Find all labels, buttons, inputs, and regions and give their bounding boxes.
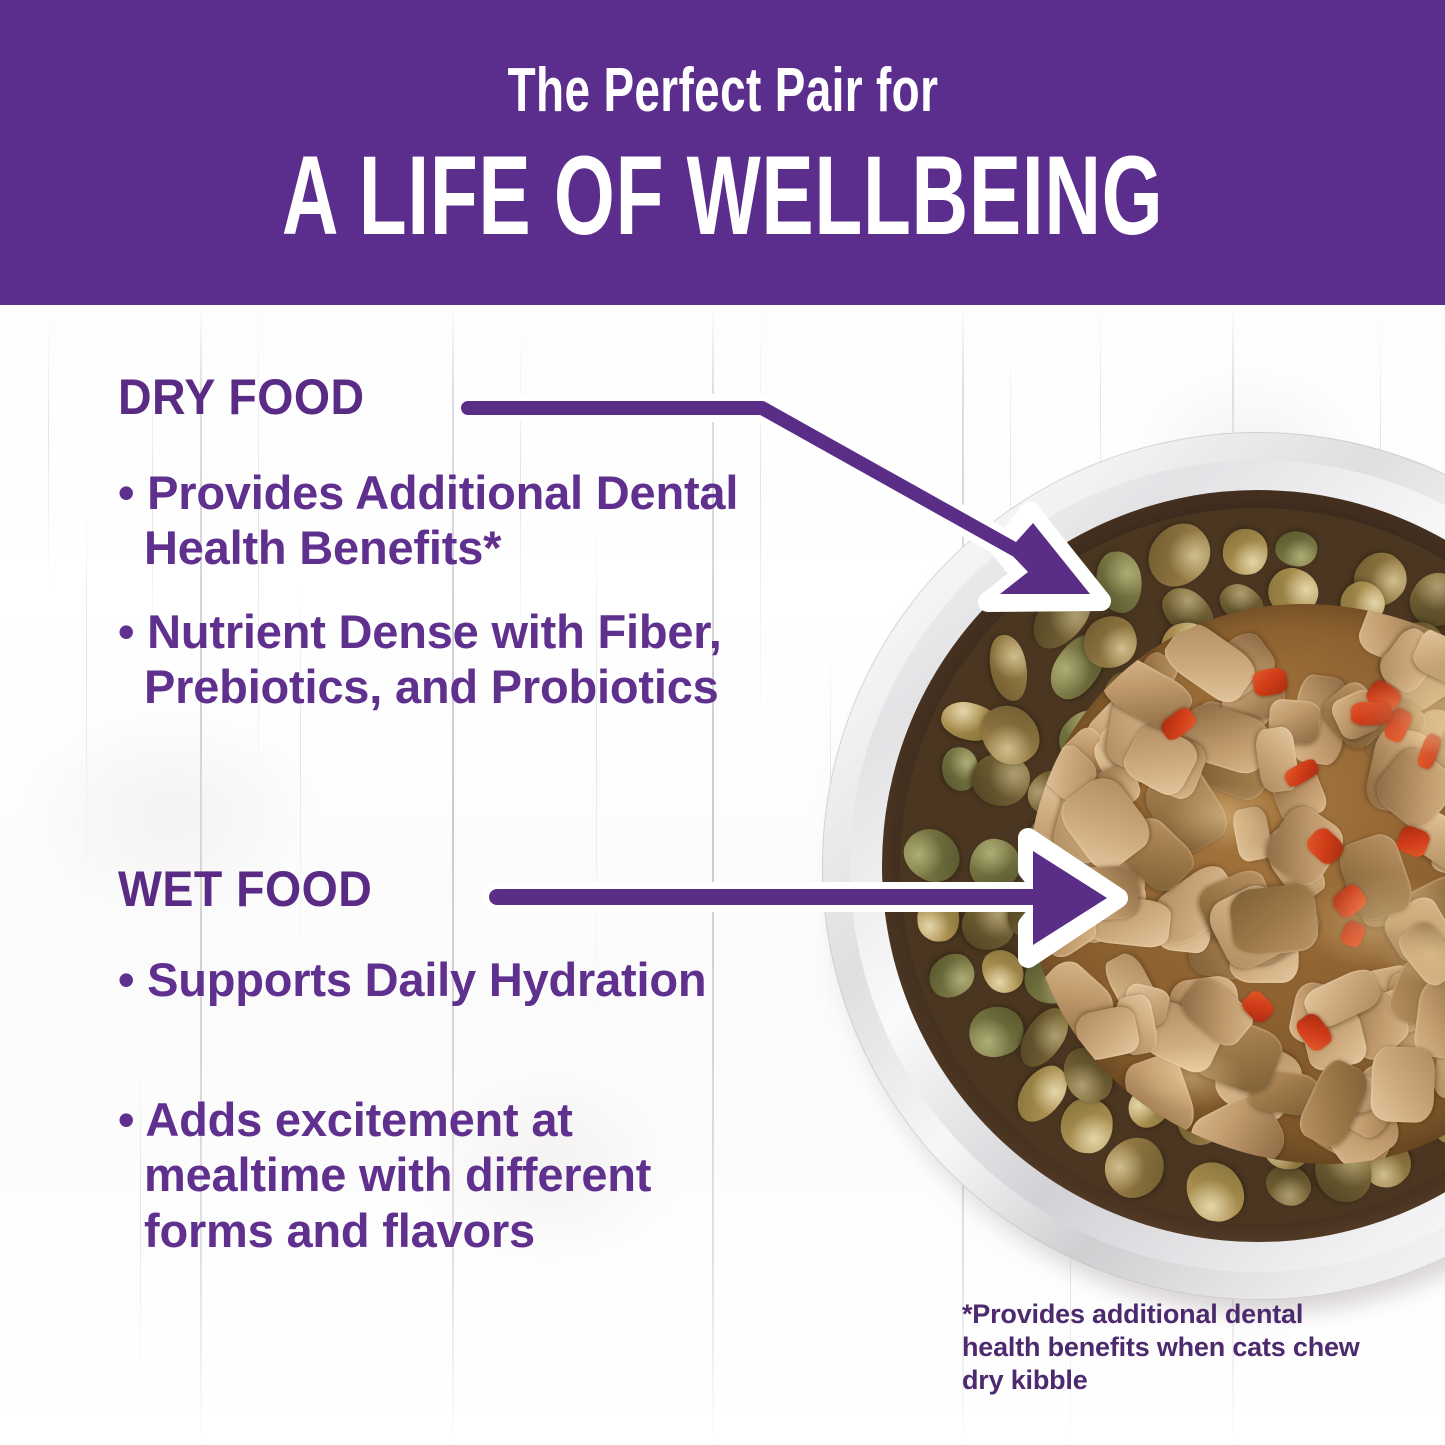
bullet-dry-food-1: • Provides Additional Dental Health Bene…: [118, 465, 758, 576]
gravy-sheen: [1138, 1046, 1245, 1110]
bullet-wet-food-1: • Supports Daily Hydration: [118, 952, 706, 1007]
wet-food-chunk: [1370, 1046, 1435, 1124]
kibble-piece: [1136, 511, 1223, 598]
kibble-piece: [973, 942, 1031, 1001]
bowl-of-cat-food-image: [822, 432, 1445, 1312]
wet-food-chunk: [1070, 865, 1139, 922]
kibble-piece: [1059, 1096, 1113, 1154]
kibble-piece: [966, 835, 1024, 895]
poster-canvas: The Perfect Pair for A LIFE OF WELLBEING…: [0, 0, 1445, 1445]
header-title: A LIFE OF WELLBEING: [282, 140, 1163, 252]
bullet-dry-food-2: • Nutrient Dense with Fiber, Prebiotics,…: [118, 604, 758, 715]
footnote-text: *Provides additional dental health benef…: [962, 1298, 1382, 1397]
kibble-piece: [1221, 527, 1270, 577]
kibble-piece: [1274, 530, 1319, 569]
kibble-piece: [985, 631, 1032, 703]
bullet-wet-food-2: • Adds excitement at mealtime with diffe…: [118, 1092, 758, 1258]
kibble-piece: [900, 820, 969, 892]
kibble-piece: [915, 893, 961, 943]
kibble-piece: [920, 945, 983, 1006]
header-subtitle: The Perfect Pair for: [507, 60, 938, 122]
kibble-piece: [1093, 549, 1145, 616]
header-banner: The Perfect Pair for A LIFE OF WELLBEING: [0, 0, 1445, 305]
section-title-wet-food: WET FOOD: [118, 864, 372, 914]
section-title-dry-food: DRY FOOD: [118, 372, 365, 422]
gravy-sheen: [1165, 782, 1279, 851]
